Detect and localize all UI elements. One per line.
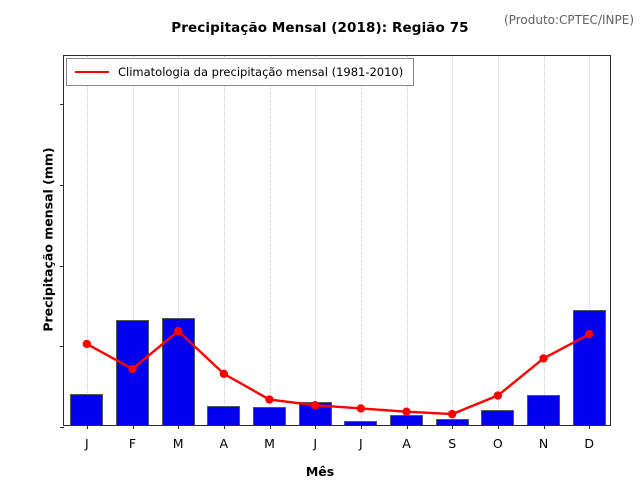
x-tick-label-7: A	[387, 436, 427, 451]
legend-label: Climatologia da precipitação mensal (198…	[118, 65, 403, 79]
x-tick-label-5: J	[295, 436, 335, 451]
gridline-vertical	[315, 56, 317, 425]
x-tick-label-0: J	[67, 436, 107, 451]
x-tick-mark	[178, 425, 179, 429]
bar-j-5	[299, 402, 332, 425]
plot-area: Precipitação mensal (mm) Climatologia da…	[63, 55, 611, 426]
bar-m-4	[253, 407, 286, 425]
x-tick-label-11: D	[569, 436, 609, 451]
gridline-vertical	[361, 56, 363, 425]
plot-inner	[64, 56, 610, 425]
x-tick-mark	[315, 425, 316, 429]
y-axis-label: Precipitação mensal (mm)	[41, 50, 56, 430]
gridline-vertical	[452, 56, 454, 425]
x-tick-label-10: N	[524, 436, 564, 451]
x-tick-mark	[270, 425, 271, 429]
x-tick-label-9: O	[478, 436, 518, 451]
y-tick-mark	[60, 427, 64, 428]
y-tick-mark	[60, 346, 64, 347]
x-tick-label-2: M	[158, 436, 198, 451]
gridline-vertical	[270, 56, 272, 425]
chart-legend: Climatologia da precipitação mensal (198…	[66, 58, 414, 86]
y-tick-mark	[60, 266, 64, 267]
x-tick-mark	[361, 425, 362, 429]
x-tick-label-3: A	[204, 436, 244, 451]
bar-o-9	[481, 410, 514, 425]
product-annotation: (Produto:CPTEC/INPE)	[504, 13, 634, 27]
gridline-vertical	[224, 56, 226, 425]
x-tick-mark	[498, 425, 499, 429]
x-tick-label-8: S	[432, 436, 472, 451]
bar-j-0	[70, 394, 103, 425]
gridline-vertical	[87, 56, 89, 425]
bar-f-1	[116, 320, 149, 425]
chart-figure: Precipitação Mensal (2018): Região 75 (P…	[0, 0, 640, 500]
bar-a-7	[390, 415, 423, 425]
bar-d-11	[573, 310, 606, 425]
gridline-vertical	[498, 56, 500, 425]
x-tick-mark	[544, 425, 545, 429]
x-tick-mark	[589, 425, 590, 429]
x-tick-label-1: F	[113, 436, 153, 451]
x-tick-label-4: M	[250, 436, 290, 451]
x-tick-mark	[452, 425, 453, 429]
x-axis-label: Mês	[0, 464, 640, 479]
x-tick-label-6: J	[341, 436, 381, 451]
y-tick-mark	[60, 185, 64, 186]
y-tick-mark	[60, 104, 64, 105]
x-tick-mark	[133, 425, 134, 429]
x-tick-mark	[407, 425, 408, 429]
bar-n-10	[527, 395, 560, 425]
gridline-vertical	[407, 56, 409, 425]
x-tick-mark	[224, 425, 225, 429]
bar-a-3	[207, 406, 240, 425]
x-tick-mark	[87, 425, 88, 429]
bar-m-2	[162, 318, 195, 425]
gridline-vertical	[544, 56, 546, 425]
legend-line-swatch	[75, 71, 109, 73]
